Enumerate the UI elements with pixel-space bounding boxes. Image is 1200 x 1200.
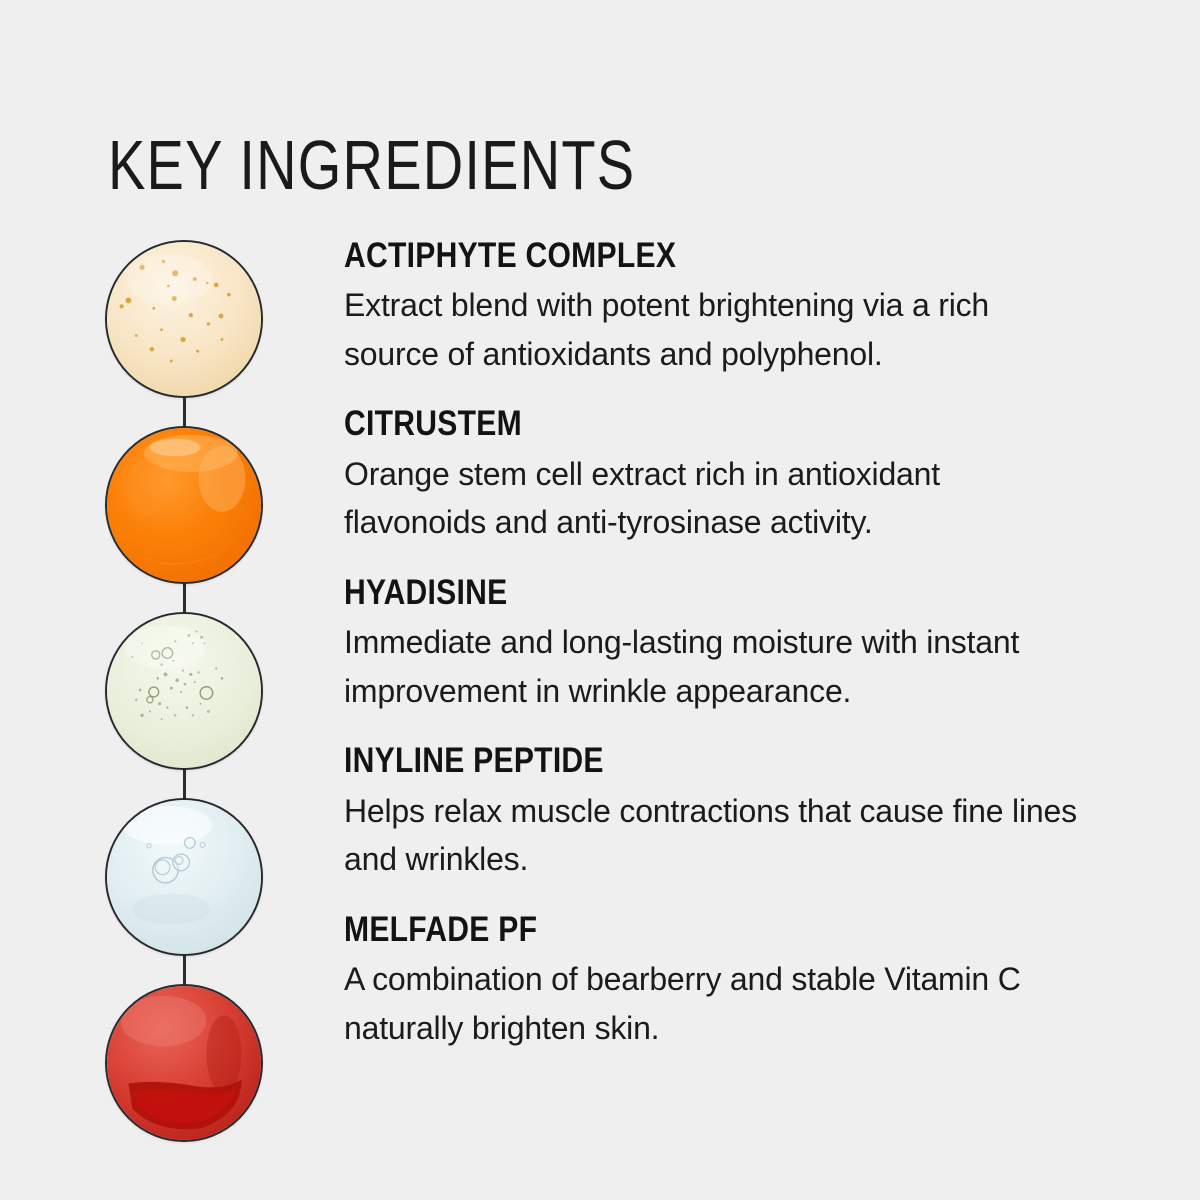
swatch-connector-1 — [183, 397, 186, 427]
ingredient-item-4: INYLINE PEPTIDE Helps relax muscle contr… — [344, 741, 1104, 883]
ingredient-name: MELFADE PF — [344, 910, 998, 949]
bright-orange-gel-swatch — [105, 426, 263, 584]
swatch-item-1 — [105, 240, 263, 398]
pale-green-bubbly-serum-swatch — [105, 612, 263, 770]
ingredient-description: Extract blend with potent brightening vi… — [344, 281, 1089, 378]
ingredient-name: HYADISINE — [344, 573, 998, 612]
swatch-item-4 — [105, 798, 263, 956]
swatch-connector-3 — [183, 769, 186, 799]
cream-beige-speckled-droplet-swatch — [105, 240, 263, 398]
swatch-item-3 — [105, 612, 263, 770]
ingredient-description: Helps relax muscle contractions that cau… — [344, 787, 1089, 884]
swatch-item-5 — [105, 984, 263, 1142]
ingredient-description: A combination of bearberry and stable Vi… — [344, 955, 1089, 1052]
ingredient-name: CITRUSTEM — [344, 404, 998, 443]
red-glossy-droplet-swatch — [105, 984, 263, 1142]
ingredient-item-2: CITRUSTEM Orange stem cell extract rich … — [344, 404, 1104, 546]
swatch-item-2 — [105, 426, 263, 584]
ingredient-item-1: ACTIPHYTE COMPLEX Extract blend with pot… — [344, 236, 1104, 378]
ingredient-description: Orange stem cell extract rich in antioxi… — [344, 450, 1089, 547]
swatch-connector-2 — [183, 583, 186, 613]
ingredient-list: ACTIPHYTE COMPLEX Extract blend with pot… — [344, 236, 1104, 1052]
ingredient-name: ACTIPHYTE COMPLEX — [344, 236, 998, 275]
ingredient-description: Immediate and long-lasting moisture with… — [344, 618, 1089, 715]
ingredient-item-3: HYADISINE Immediate and long-lasting moi… — [344, 573, 1104, 715]
swatch-column — [105, 240, 263, 1142]
ingredient-name: INYLINE PEPTIDE — [344, 741, 998, 780]
swatch-connector-4 — [183, 955, 186, 985]
pale-blue-bubbly-gel-swatch — [105, 798, 263, 956]
key-ingredients-page: KEY INGREDIENTS — [0, 0, 1200, 1200]
ingredient-item-5: MELFADE PF A combination of bearberry an… — [344, 910, 1104, 1052]
page-title: KEY INGREDIENTS — [108, 129, 635, 203]
